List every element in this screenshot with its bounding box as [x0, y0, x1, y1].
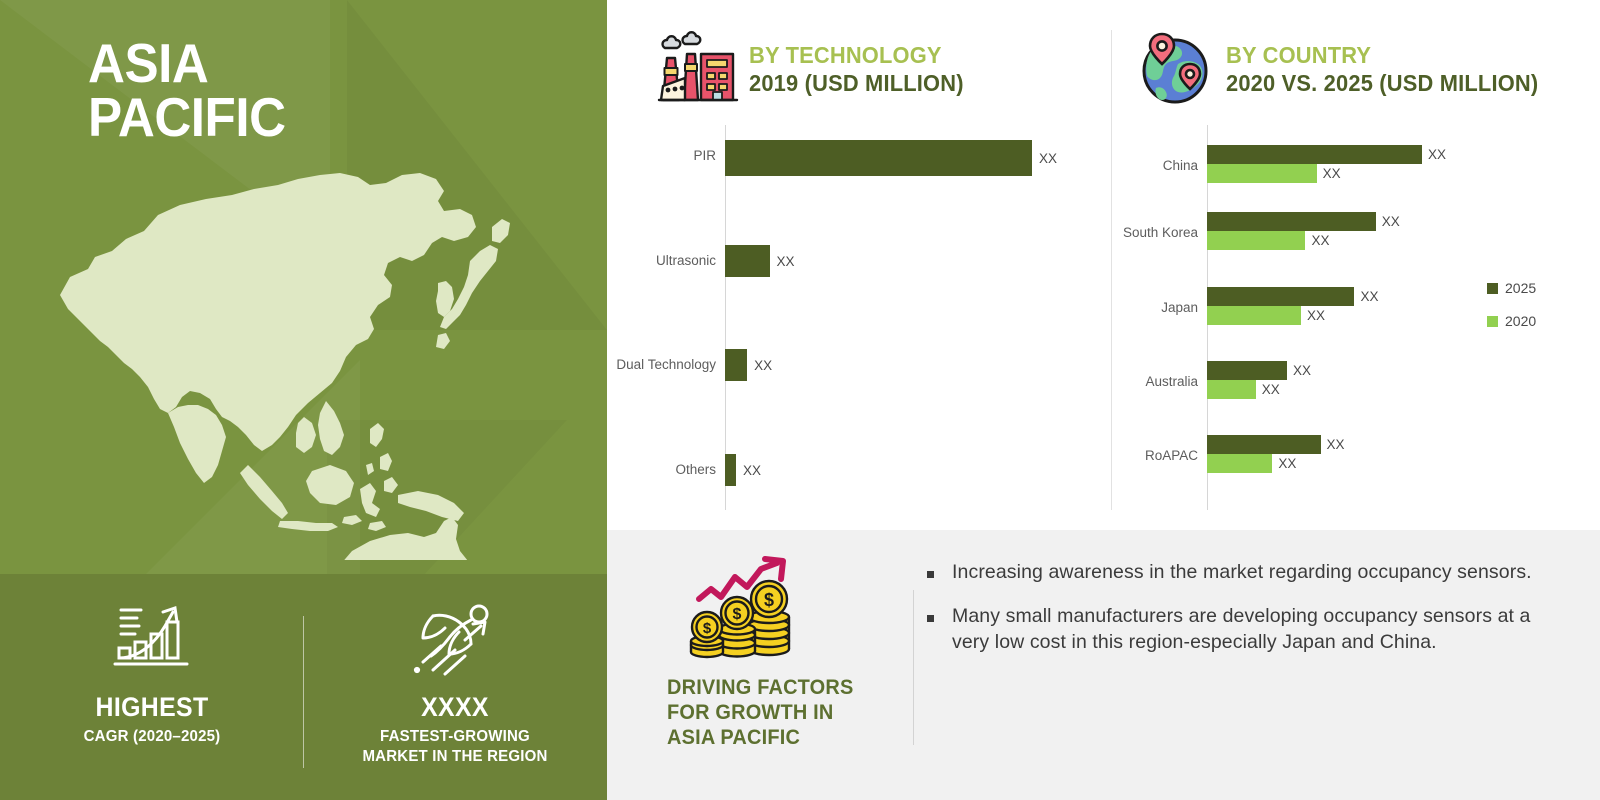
legend-label: 2020 — [1505, 313, 1536, 329]
bar-2025 — [1207, 145, 1422, 164]
factory-icon — [657, 30, 739, 108]
country-bar-chart: ChinaXXXXSouth KoreaXXXXJapanXXXXAustral… — [1207, 125, 1457, 510]
legend-swatch — [1487, 316, 1498, 327]
category-label: Japan — [1161, 300, 1207, 315]
category-label: RoAPAC — [1145, 448, 1207, 463]
stat-value: HIGHEST — [14, 692, 290, 723]
country-chart-header: BY COUNTRY 2020 VS. 2025 (USD MILLION) — [1134, 30, 1555, 108]
driving-factors-title: DRIVING FACTORS FOR GROWTH IN ASIA PACIF… — [667, 675, 905, 751]
infographic-page: ASIA PACIFIC — [0, 0, 1600, 800]
category-label: Australia — [1145, 374, 1207, 389]
money-growth-icon: $ $ — [689, 555, 817, 663]
bar-2020 — [1207, 306, 1301, 325]
stat-highest-cagr: HIGHEST CAGR (2020–2025) — [2, 596, 302, 747]
rocket-person-icon — [305, 596, 605, 682]
bar-2019 — [725, 454, 736, 486]
list-item-text: Many small manufacturers are developing … — [952, 604, 1557, 656]
left-region-panel: ASIA PACIFIC — [0, 0, 607, 800]
bullet-square-icon — [927, 615, 934, 622]
stat-fastest-growing: XXXX FASTEST-GROWING MARKET IN THE REGIO… — [305, 596, 605, 767]
bar-2025 — [1207, 212, 1376, 231]
bar-2020 — [1207, 454, 1272, 473]
chart-divider — [1111, 30, 1112, 510]
bar-value-label: XX — [743, 463, 761, 478]
technology-chart-header: BY TECHNOLOGY 2019 (USD MILLION) — [657, 30, 975, 108]
category-label: Others — [675, 462, 725, 477]
table-row: OthersXX — [725, 454, 1095, 486]
bar-value-label: XX — [1307, 308, 1325, 323]
bar-value-label: XX — [1360, 289, 1378, 304]
list-item: Many small manufacturers are developing … — [927, 604, 1557, 656]
stat-caption-line2: MARKET IN THE REGION — [362, 748, 547, 765]
bar-2025 — [1207, 435, 1321, 454]
region-title-line2: PACIFIC — [88, 90, 286, 144]
legend-item[interactable]: 2020 — [1487, 313, 1586, 329]
bar-value-label: XX — [1039, 151, 1057, 166]
driving-factors-block: $ $ — [667, 555, 917, 751]
bar-value-label: XX — [777, 254, 795, 269]
bar-value-label: XX — [1382, 214, 1400, 229]
stat-caption: CAGR (2020–2025) — [11, 727, 293, 747]
left-stats-band: HIGHEST CAGR (2020–2025) — [0, 574, 607, 800]
table-row: AustraliaXXXX — [1207, 361, 1457, 403]
country-chart-subtitle: 2020 VS. 2025 (USD MILLION) — [1226, 71, 1538, 95]
bar-value-label: XX — [754, 358, 772, 373]
svg-text:$: $ — [703, 620, 712, 637]
bar-value-label: XX — [1327, 437, 1345, 452]
chart-axis — [725, 125, 726, 510]
stat-caption: FASTEST-GROWING MARKET IN THE REGION — [314, 727, 596, 767]
bar-value-label: XX — [1323, 166, 1341, 181]
table-row: Dual TechnologyXX — [725, 349, 1095, 381]
technology-chart-subtitle: 2019 (USD MILLION) — [749, 71, 964, 95]
bar-2020 — [1207, 380, 1256, 399]
country-chart-title: BY COUNTRY — [1226, 43, 1538, 67]
bar-value-label: XX — [1293, 363, 1311, 378]
technology-bar-chart: PIRXXUltrasonicXXDual TechnologyXXOthers… — [725, 125, 1095, 510]
bar-2020 — [1207, 231, 1305, 250]
stats-divider — [303, 616, 304, 768]
list-item: Increasing awareness in the market regar… — [927, 560, 1557, 586]
technology-chart-title: BY TECHNOLOGY — [749, 43, 964, 67]
bar-2025 — [1207, 361, 1287, 380]
drivers-section: $ $ — [607, 530, 1600, 800]
driving-factors-title-line3: ASIA PACIFIC — [667, 726, 800, 749]
table-row: RoAPACXXXX — [1207, 435, 1457, 477]
list-item-text: Increasing awareness in the market regar… — [952, 560, 1532, 586]
bullet-square-icon — [927, 571, 934, 578]
table-row: South KoreaXXXX — [1207, 212, 1457, 254]
table-row: PIRXX — [725, 140, 1095, 172]
charts-area: BY TECHNOLOGY 2019 (USD MILLION) PIRXXUl… — [607, 0, 1600, 530]
legend-item[interactable]: 2025 — [1487, 280, 1586, 296]
legend-label: 2025 — [1505, 280, 1536, 296]
table-row: JapanXXXX — [1207, 287, 1457, 329]
driving-factors-bullets: Increasing awareness in the market regar… — [927, 560, 1557, 674]
bar-value-label: XX — [1311, 233, 1329, 248]
bar-2019 — [725, 349, 747, 381]
asia-pacific-map — [40, 165, 560, 560]
driving-factors-title-line1: DRIVING FACTORS — [667, 676, 853, 699]
bar-value-label: XX — [1428, 147, 1446, 162]
country-chart-legend: 20252020 — [1487, 280, 1586, 346]
category-label: South Korea — [1123, 225, 1207, 240]
bar-2020 — [1207, 164, 1317, 183]
category-label: Dual Technology — [616, 357, 725, 372]
stat-caption-line1: FASTEST-GROWING — [380, 728, 530, 745]
driving-factors-title-line2: FOR GROWTH IN — [667, 701, 833, 724]
globe-pin-icon — [1134, 30, 1216, 108]
legend-swatch — [1487, 283, 1498, 294]
category-label: Ultrasonic — [656, 253, 725, 268]
category-label: China — [1163, 158, 1207, 173]
region-title-line1: ASIA — [88, 32, 208, 94]
stat-value: XXXX — [317, 692, 593, 723]
bar-value-label: XX — [1262, 382, 1280, 397]
bottom-divider — [913, 590, 914, 745]
category-label: PIR — [693, 148, 725, 163]
table-row: UltrasonicXX — [725, 245, 1095, 277]
table-row: ChinaXXXX — [1207, 145, 1457, 187]
bar-2025 — [1207, 287, 1354, 306]
region-title: ASIA PACIFIC — [88, 36, 286, 145]
bar-value-label: XX — [1278, 456, 1296, 471]
bar-chart-growth-icon — [2, 596, 302, 682]
svg-text:$: $ — [733, 606, 742, 623]
svg-text:$: $ — [764, 590, 774, 610]
bar-2019 — [725, 245, 770, 277]
right-content: BY TECHNOLOGY 2019 (USD MILLION) PIRXXUl… — [607, 0, 1600, 800]
bar-2019 — [725, 140, 1032, 176]
